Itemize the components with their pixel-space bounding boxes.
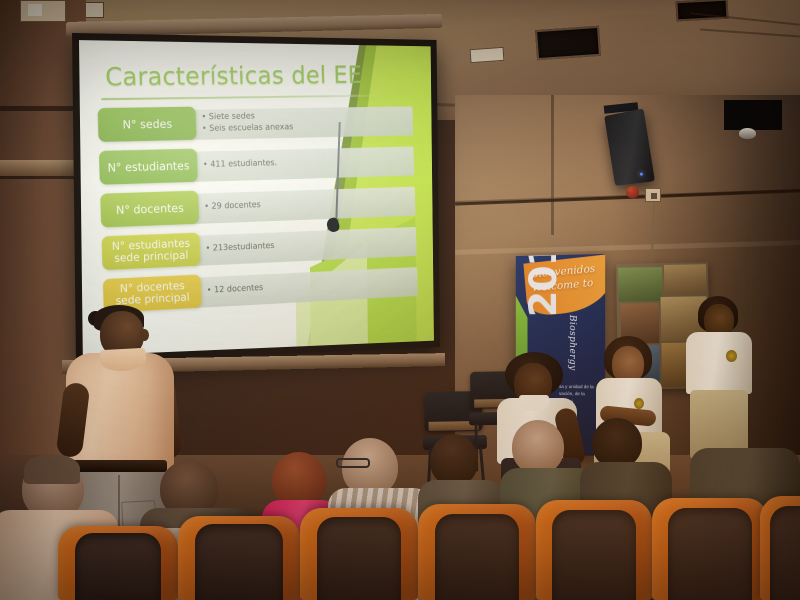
- ceiling-mount-box: [724, 100, 782, 130]
- row-details: • 411 estudiantes.: [202, 147, 277, 182]
- ceiling-light: [470, 47, 505, 63]
- slide-row: N° estudiantes • 411 estudiantes.: [99, 144, 422, 189]
- eyeglasses-icon: [336, 458, 370, 468]
- auditorium-photo: Características del EE N° sedes • Siete …: [0, 0, 800, 600]
- detail-line: • 29 docentes: [204, 199, 261, 213]
- row-label: N° estudiantes sede principal: [101, 233, 200, 271]
- seat: [58, 526, 178, 600]
- banner-year: 2016: [522, 254, 565, 317]
- ceiling-vent: [676, 0, 729, 21]
- slide-rows: N° sedes • Siete sedes • Seis escuelas a…: [98, 103, 425, 321]
- row-label: N° docentes: [100, 191, 199, 228]
- slide-title: Características del EE: [105, 61, 363, 91]
- uniform-crest: [726, 350, 737, 362]
- red-object: [626, 186, 639, 198]
- seat: [418, 504, 536, 600]
- row-label: N° estudiantes: [99, 149, 198, 185]
- seat: [300, 508, 418, 600]
- detail-line: • 411 estudiantes.: [203, 157, 277, 171]
- row-details: • 12 docentes: [206, 272, 263, 308]
- row-label: N° sedes: [98, 107, 197, 142]
- slide-row: N° docentes • 29 docentes: [100, 184, 422, 232]
- seat: [178, 516, 300, 600]
- auditorium-seats: [0, 490, 800, 600]
- row-details: • 213estudiantes: [205, 230, 275, 266]
- wall-switch: [28, 4, 42, 16]
- dome-camera-icon: [739, 128, 756, 139]
- detail-line: • 213estudiantes: [205, 240, 274, 255]
- uniform-crest: [634, 398, 644, 409]
- detail-line: • Seis escuelas anexas: [202, 122, 294, 136]
- row-details: • Siete sedes • Seis escuelas anexas: [201, 105, 293, 140]
- detail-line: • 12 docentes: [207, 282, 264, 297]
- seat: [760, 496, 800, 600]
- seat: [652, 498, 768, 600]
- slide-row: N° sedes • Siete sedes • Seis escuelas a…: [98, 103, 421, 146]
- row-details: • 29 docentes: [204, 189, 261, 224]
- seat: [536, 500, 652, 600]
- wall-fixture: [20, 0, 66, 22]
- ceiling-vent: [535, 26, 601, 60]
- wall-outlet: [645, 188, 661, 202]
